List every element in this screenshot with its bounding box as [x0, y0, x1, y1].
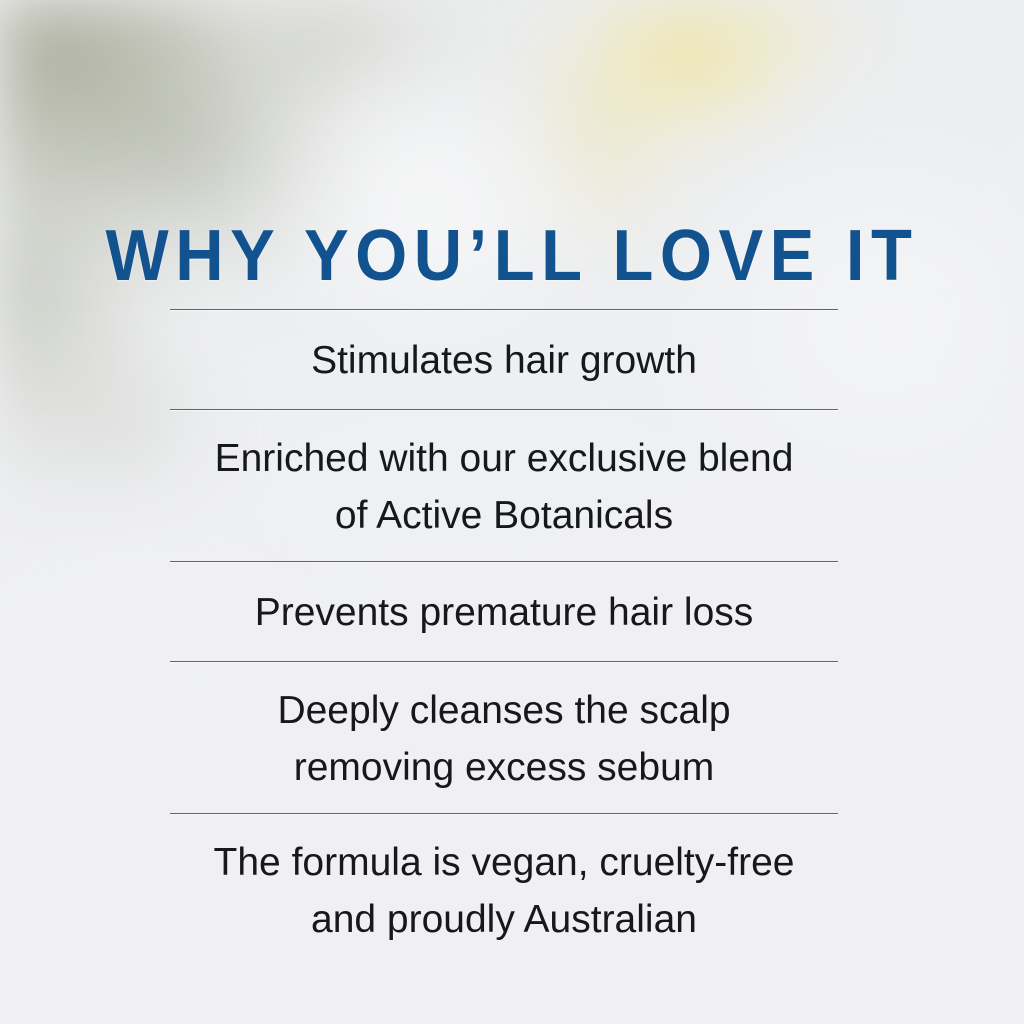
product-benefits-card: WHY YOU’LL LOVE IT Stimulates hair growt…: [0, 0, 1024, 1024]
benefit-item: Enriched with our exclusive blend of Act…: [170, 410, 838, 561]
benefit-item: Deeply cleanses the scalp removing exces…: [170, 662, 838, 813]
benefit-divider: [170, 661, 838, 662]
benefit-divider: [170, 309, 838, 310]
benefit-divider: [170, 561, 838, 562]
benefit-divider: [170, 409, 838, 410]
benefit-item: Stimulates hair growth: [170, 310, 838, 409]
benefit-divider: [170, 813, 838, 814]
content-area: WHY YOU’LL LOVE IT Stimulates hair growt…: [0, 0, 1024, 1024]
page-title: WHY YOU’LL LOVE IT: [36, 220, 988, 292]
benefits-list: Stimulates hair growth Enriched with our…: [170, 309, 838, 965]
benefit-item: The formula is vegan, cruelty-free and p…: [170, 814, 838, 965]
benefit-item: Prevents premature hair loss: [170, 562, 838, 661]
